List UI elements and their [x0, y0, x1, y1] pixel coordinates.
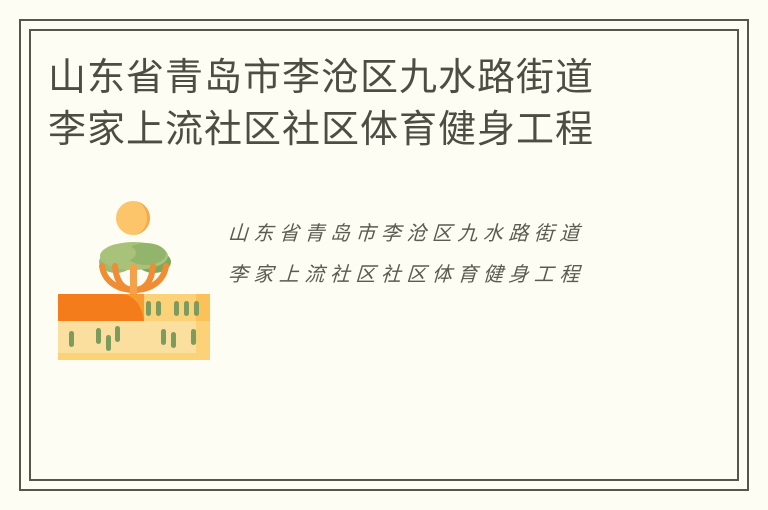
title-line-2: 李家上流社区社区体育健身工程: [48, 104, 728, 156]
caption-line-2: 李家上流社区社区体育健身工程: [227, 254, 674, 295]
illustration-svg: [58, 198, 210, 360]
title-line-1: 山东省青岛市李沧区九水路街道: [48, 52, 728, 104]
sun-icon: [116, 201, 150, 235]
caption-calligraphy: 山东省青岛市李沧区九水路街道 李家上流社区社区体育健身工程: [228, 213, 673, 295]
page-title: 山东省青岛市李沧区九水路街道 李家上流社区社区体育健身工程: [48, 52, 728, 156]
caption-line-1: 山东省青岛市李沧区九水路街道: [227, 213, 674, 254]
illustration-park-field-scene: [58, 198, 210, 360]
page-canvas: 山东省青岛市李沧区九水路街道 李家上流社区社区体育健身工程: [0, 0, 768, 510]
